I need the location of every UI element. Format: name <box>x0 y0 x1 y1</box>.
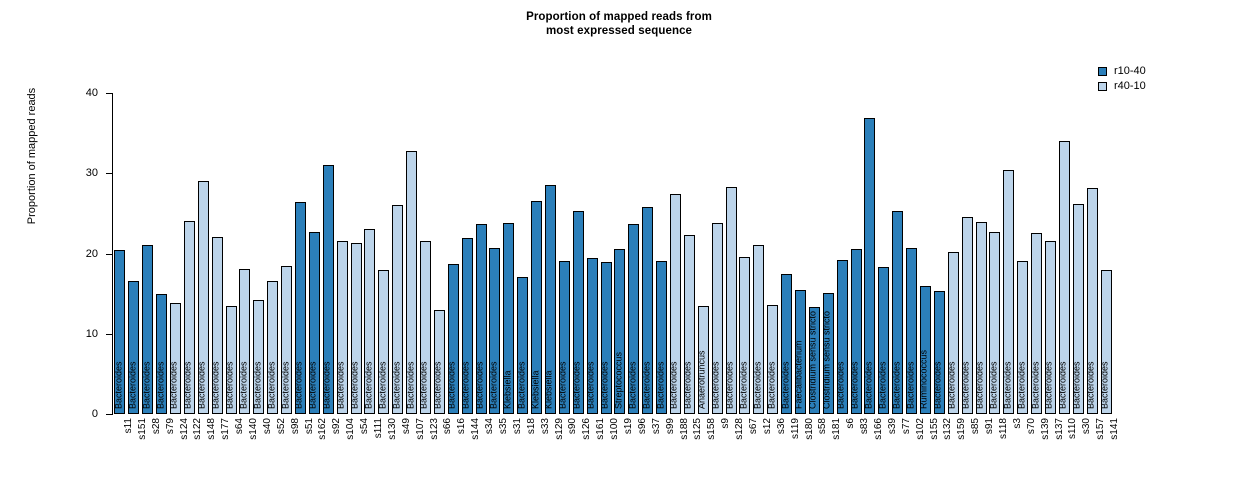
bar: Bacteroides <box>239 269 250 414</box>
bar: Bacteroides <box>198 181 209 414</box>
bar-label: Bacteroides <box>351 361 360 409</box>
bar-label: Bacteroides <box>1003 361 1012 409</box>
bar-label: Bacteroides <box>170 361 179 409</box>
bar-label: Clostridium sensu stricto <box>823 311 832 409</box>
x-axis-tick-label: s11 <box>124 418 134 433</box>
bar: Bacteroides <box>1087 188 1098 414</box>
bar-label: Anaerotruncus <box>698 350 707 409</box>
x-axis-tick-label: s16 <box>457 418 467 434</box>
bar-label: Bacteroides <box>517 361 526 409</box>
y-axis-label: Proportion of mapped reads <box>26 56 38 256</box>
x-axis-tick-label: s34 <box>485 418 495 434</box>
bar: Bacteroides <box>1017 261 1028 414</box>
chart-title: Proportion of mapped reads from most exp… <box>0 10 1238 38</box>
legend-swatch-icon <box>1098 82 1107 91</box>
bar-label: Bacteroides <box>212 361 221 409</box>
x-axis-tick-label: s9 <box>721 418 731 429</box>
x-axis-tick-label: s124 <box>180 418 190 440</box>
bar-label: Bacteroides <box>114 361 123 409</box>
x-axis-tick-label: s157 <box>1096 418 1106 440</box>
x-axis-tick-label: s19 <box>624 418 634 434</box>
legend-label: r10-40 <box>1114 66 1146 77</box>
y-axis-tick <box>106 334 113 335</box>
bar: Bacteroides <box>559 261 570 414</box>
bar: Bacteroides <box>1031 233 1042 414</box>
bar: Bacteroides <box>573 211 584 414</box>
bar-label: Bacteroides <box>420 361 429 409</box>
x-axis-tick-label: s12 <box>763 418 773 434</box>
bar-label: Bacteroides <box>295 361 304 409</box>
bar: Bacteroides <box>1073 204 1084 414</box>
bar-label: Bacteroides <box>142 361 151 409</box>
bar: Bacteroides <box>267 281 278 414</box>
bar: Bacteroides <box>295 202 306 414</box>
x-axis-tick-label: s6 <box>846 418 856 429</box>
bar-label: Klebsiella <box>545 370 554 409</box>
bar: Bacteroides <box>587 258 598 414</box>
x-axis-tick-label: s28 <box>152 418 162 434</box>
bar-label: Bacteroides <box>864 361 873 409</box>
bar: Bacteroides <box>1101 270 1112 414</box>
bar: Bacteroides <box>476 224 487 414</box>
x-axis-tick-label: s151 <box>138 418 148 440</box>
legend-label: r40-10 <box>1114 81 1146 92</box>
bar: Bacteroides <box>517 277 528 414</box>
bar: Bacteroides <box>337 241 348 414</box>
legend-item-r40-10: r40-10 <box>1098 79 1146 94</box>
bar-label: Bacteroides <box>712 361 721 409</box>
bar-label: Bacteroides <box>489 361 498 409</box>
bar: Klebsiella <box>545 185 556 415</box>
x-axis-tick-label: s111 <box>374 418 384 438</box>
bar: Streptococcus <box>614 249 625 414</box>
bar-label: Bacteroides <box>1101 361 1110 409</box>
legend-swatch-icon <box>1098 67 1107 76</box>
x-axis-tick-label: s66 <box>443 418 453 434</box>
x-axis-tick-label: s77 <box>902 418 912 434</box>
bar: Faecalibacterium <box>795 290 806 414</box>
bar-label: Bacteroides <box>1073 361 1082 409</box>
bar-label: Bacteroides <box>739 361 748 409</box>
bar: Bacteroides <box>378 270 389 414</box>
x-axis-tick-label: s104 <box>346 418 356 440</box>
bar-label: Bacteroides <box>989 361 998 409</box>
bar-label: Bacteroides <box>406 361 415 409</box>
bar: Bacteroides <box>128 281 139 414</box>
bar-label: Bacteroides <box>253 361 262 409</box>
bar: Bacteroides <box>1003 170 1014 414</box>
bar: Bacteroides <box>781 274 792 414</box>
x-axis-tick-label: s181 <box>832 418 842 440</box>
bar: Bacteroides <box>976 222 987 414</box>
x-axis-tick-label: s54 <box>360 418 370 434</box>
x-axis-tick-label: s132 <box>943 418 953 440</box>
bar-label: Bacteroides <box>587 361 596 409</box>
bar-label: Bacteroides <box>198 361 207 409</box>
x-axis-tick-label: s128 <box>735 418 745 440</box>
bar: Bacteroides <box>406 151 417 414</box>
bar: Anaerotruncus <box>698 306 709 414</box>
bar-label: Faecalibacterium <box>795 340 804 409</box>
bar: Bacteroides <box>462 238 473 414</box>
bar: Bacteroides <box>156 294 167 414</box>
x-axis-tick-label: s52 <box>277 418 287 434</box>
bar: Bacteroides <box>670 194 681 414</box>
bar-label: Bacteroides <box>656 361 665 409</box>
bar: Bacteroides <box>753 245 764 414</box>
bar: Bacteroides <box>253 300 264 414</box>
bar-label: Bacteroides <box>1045 361 1054 409</box>
bar-chart: Proportion of mapped reads from most exp… <box>0 0 1238 500</box>
bar-label: Bacteroides <box>642 361 651 409</box>
bar-label: Bacteroides <box>476 361 485 409</box>
y-axis-tick-label: 10 <box>72 329 98 340</box>
bar-label: Bacteroides <box>378 361 387 409</box>
x-axis-tick-label: s155 <box>930 418 940 440</box>
bar: Bacteroides <box>962 217 973 414</box>
bar: Bacteroides <box>1045 241 1056 414</box>
x-axis-tick-label: s33 <box>541 418 551 434</box>
bar-label: Bacteroides <box>767 361 776 409</box>
bar: Bacteroides <box>642 207 653 414</box>
bar-label: Bacteroides <box>684 361 693 409</box>
x-axis-tick-label: s30 <box>1082 418 1092 434</box>
x-axis-tick-label: s188 <box>680 418 690 440</box>
bar-label: Bacteroides <box>184 361 193 409</box>
x-axis-tick-label: s96 <box>638 418 648 434</box>
x-axis-tick-label: s70 <box>1027 418 1037 434</box>
x-axis-tick-label: s91 <box>985 418 995 434</box>
x-axis-tick-label: s107 <box>416 418 426 440</box>
chart-title-line-2: most expressed sequence <box>0 24 1238 38</box>
bar: Bacteroides <box>364 229 375 414</box>
bar: Bacteroides <box>712 223 723 414</box>
x-axis-tick-label: s118 <box>999 418 1009 439</box>
x-axis-tick-label: s85 <box>971 418 981 434</box>
x-axis-tick-label: s161 <box>596 418 606 440</box>
x-axis-tick-label: s40 <box>263 418 273 434</box>
bar: Bacteroides <box>851 249 862 414</box>
bar-label: Bacteroides <box>309 361 318 409</box>
bar: Bacteroides <box>767 305 778 414</box>
bar-label: Bacteroides <box>448 361 457 409</box>
bar-label: Bacteroides <box>851 361 860 409</box>
x-axis-tick-label: s39 <box>888 418 898 434</box>
x-axis-tick-label: s119 <box>791 418 801 439</box>
bar: Bacteroides <box>739 257 750 414</box>
bar: Bacteroides <box>170 303 181 414</box>
bar: Clostridium sensu stricto <box>809 307 820 414</box>
bar: Bacteroides <box>837 260 848 414</box>
bar-label: Bacteroides <box>1059 361 1068 409</box>
x-axis-tick-label: s166 <box>874 418 884 440</box>
x-axis-tick-label: s122 <box>193 418 203 440</box>
bar: Bacteroides <box>323 165 334 414</box>
bar: Bacteroides <box>489 248 500 414</box>
x-axis-tick-label: s67 <box>749 418 759 434</box>
x-axis-tick-label: s140 <box>249 418 259 440</box>
x-axis-tick-label: s137 <box>1055 418 1065 440</box>
bar-label: Bacteroides <box>156 361 165 409</box>
bar: Clostridium sensu stricto <box>823 293 834 414</box>
bar: Bacteroides <box>601 262 612 414</box>
x-axis-tick-label: s126 <box>582 418 592 440</box>
chart-legend: r10-40r40-10 <box>1098 64 1146 94</box>
legend-item-r10-40: r10-40 <box>1098 64 1146 79</box>
bar-label: Bacteroides <box>670 361 679 409</box>
x-axis-tick-label: s148 <box>207 418 217 440</box>
bar-label: Bacteroides <box>726 361 735 409</box>
x-axis-tick-label: s129 <box>555 418 565 440</box>
bar-label: Bacteroides <box>267 361 276 409</box>
x-axis-tick-label: s139 <box>1041 418 1051 440</box>
y-axis-tick-label: 40 <box>72 88 98 99</box>
bar-label: Bacteroides <box>128 361 137 409</box>
x-axis-tick-label: s180 <box>805 418 815 440</box>
bar: Bacteroides <box>434 310 445 414</box>
bar: Bacteroides <box>656 261 667 414</box>
x-axis-tick-label: s36 <box>777 418 787 434</box>
bar-label: Bacteroides <box>892 361 901 409</box>
x-axis-tick-label: s64 <box>235 418 245 434</box>
bar-label: Bacteroides <box>962 361 971 409</box>
bar-label: Bacteroides <box>976 361 985 409</box>
bar: Bacteroides <box>628 224 639 414</box>
y-axis-tick-label: 30 <box>72 168 98 179</box>
bar-label: Klebsiella <box>503 370 512 409</box>
x-axis-tick-label: s123 <box>430 418 440 440</box>
x-axis-tick-label: s92 <box>332 418 342 434</box>
bar-label: Bacteroides <box>281 361 290 409</box>
chart-title-line-1: Proportion of mapped reads from <box>526 11 712 23</box>
x-axis-tick-label: s110 <box>1068 418 1078 439</box>
x-axis-tick-label: s37 <box>652 418 662 434</box>
y-axis-tick <box>106 414 113 415</box>
bar: Bacteroides <box>226 306 237 414</box>
x-axis-tick-label: s100 <box>610 418 620 440</box>
x-axis-tick-label: s144 <box>471 418 481 440</box>
x-axis-tick-label: s35 <box>499 418 509 434</box>
bar: Bacteroides <box>864 118 875 414</box>
x-axis-tick-label: s130 <box>388 418 398 440</box>
bar: Bacteroides <box>878 267 889 414</box>
bar-label: Bacteroides <box>948 361 957 409</box>
bar: Bacteroides <box>948 252 959 414</box>
x-axis-tick-label: s90 <box>568 418 578 434</box>
x-axis-tick-label: s58 <box>818 418 828 434</box>
x-axis-tick-label: s18 <box>527 418 537 434</box>
x-axis-tick-label: s162 <box>318 418 328 440</box>
x-axis-tick-label: s83 <box>860 418 870 434</box>
x-axis-tick-label: s51 <box>305 418 315 434</box>
bar-label: Bacteroides <box>934 361 943 409</box>
bar: Bacteroides <box>1059 141 1070 414</box>
y-axis-tick <box>106 93 113 94</box>
y-axis-tick <box>106 254 113 255</box>
bar-label: Bacteroides <box>601 361 610 409</box>
y-axis-tick-label: 0 <box>72 409 98 420</box>
x-axis-tick-label: s102 <box>916 418 926 440</box>
bar-label: Bacteroides <box>323 361 332 409</box>
bar: Klebsiella <box>531 201 542 414</box>
x-axis-tick-label: s49 <box>402 418 412 434</box>
bar-label: Bacteroides <box>462 361 471 409</box>
x-axis-tick-label: s31 <box>513 418 523 434</box>
bar-label: Ruminococcus <box>920 350 929 409</box>
bar-label: Streptococcus <box>614 352 623 409</box>
bar: Bacteroides <box>114 250 125 415</box>
bar-label: Bacteroides <box>878 361 887 409</box>
bar: Bacteroides <box>420 241 431 414</box>
bar-label: Bacteroides <box>337 361 346 409</box>
bar-label: Bacteroides <box>573 361 582 409</box>
bar: Ruminococcus <box>920 286 931 414</box>
bar-label: Bacteroides <box>837 361 846 409</box>
bar: Bacteroides <box>892 211 903 414</box>
bar: Bacteroides <box>309 232 320 414</box>
x-axis-labels: s11s151s28s79s124s122s148s177s64s140s40s… <box>113 418 1113 488</box>
bar: Bacteroides <box>906 248 917 414</box>
bar-label: Bacteroides <box>1087 361 1096 409</box>
plot-area: BacteroidesBacteroidesBacteroidesBactero… <box>113 93 1113 414</box>
bar-label: Bacteroides <box>559 361 568 409</box>
x-axis-tick-label: s177 <box>221 418 231 440</box>
x-axis-tick-label: s141 <box>1110 418 1120 440</box>
bar-label: Klebsiella <box>531 370 540 409</box>
bar: Bacteroides <box>934 291 945 414</box>
bar-label: Clostridium sensu stricto <box>809 311 818 409</box>
bar-label: Bacteroides <box>753 361 762 409</box>
bar-label: Bacteroides <box>1031 361 1040 409</box>
bar: Bacteroides <box>184 221 195 414</box>
x-axis-tick-label: s98 <box>291 418 301 434</box>
bar: Bacteroides <box>281 266 292 414</box>
x-axis-tick-label: s159 <box>957 418 967 440</box>
bar: Bacteroides <box>142 245 153 414</box>
bar: Bacteroides <box>448 264 459 414</box>
x-axis-tick-label: s79 <box>166 418 176 434</box>
bar-label: Bacteroides <box>434 361 443 409</box>
y-axis-tick <box>106 173 113 174</box>
bar: Bacteroides <box>726 187 737 414</box>
bar-label: Bacteroides <box>1017 361 1026 409</box>
bar: Bacteroides <box>351 243 362 414</box>
x-axis-tick-label: s99 <box>666 418 676 434</box>
y-axis-tick-label: 20 <box>72 249 98 260</box>
bar-label: Bacteroides <box>364 361 373 409</box>
bar-label: Bacteroides <box>226 361 235 409</box>
x-axis-tick-label: s125 <box>693 418 703 440</box>
bar: Bacteroides <box>684 235 695 414</box>
bar-label: Bacteroides <box>392 361 401 409</box>
bar: Bacteroides <box>392 205 403 414</box>
bar-label: Bacteroides <box>781 361 790 409</box>
bar-label: Bacteroides <box>239 361 248 409</box>
x-axis-tick-label: s3 <box>1013 418 1023 429</box>
bar: Bacteroides <box>212 237 223 414</box>
bar-label: Bacteroides <box>628 361 637 409</box>
bar: Klebsiella <box>503 223 514 414</box>
x-axis-tick-label: s158 <box>707 418 717 440</box>
bar: Bacteroides <box>989 232 1000 414</box>
bar-label: Bacteroides <box>906 361 915 409</box>
